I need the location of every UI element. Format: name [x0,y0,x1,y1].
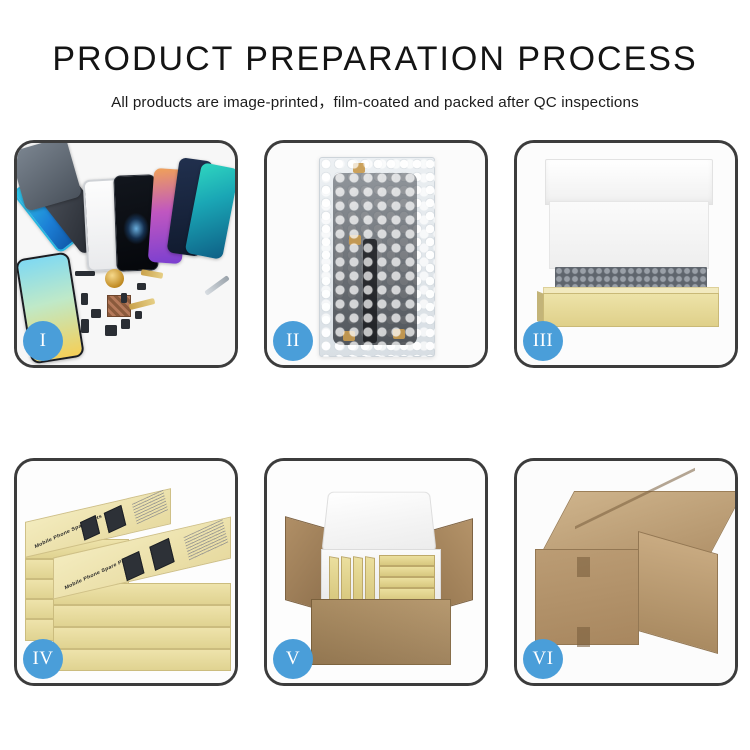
process-step-2[interactable]: II [264,140,488,368]
kraft-box-body [543,293,719,327]
step-badge-4: IV [23,639,63,679]
copper-coil-part [105,269,124,288]
small-part [91,309,101,318]
stacked-box-edge [53,627,231,649]
small-part [75,271,95,276]
carton-tab [577,557,590,577]
box-product-thumbnail [149,538,174,571]
kraft-box-item [341,556,351,602]
kraft-box-item [353,556,363,602]
process-step-3[interactable]: III [514,140,738,368]
foam-insert [549,201,709,269]
process-step-1[interactable]: I [14,140,238,368]
stacked-box-edge [53,605,231,627]
small-part [81,293,88,305]
box-stack: Mobile Phone Spare Parts Mobile Phone Sp… [25,487,231,665]
small-part [105,325,117,336]
box-lid-open [545,159,713,205]
step-badge-2: II [273,321,313,361]
small-part [137,283,146,290]
kraft-box-item [379,566,435,577]
small-part [121,319,130,329]
flex-cable-part [129,298,156,310]
step-badge-5: V [273,639,313,679]
carton-tab [577,627,590,647]
tape-piece [393,329,405,339]
kraft-box-item [379,577,435,588]
flex-cable-part [141,269,164,279]
step-badge-3: III [523,321,563,361]
header: PRODUCT PREPARATION PROCESS All products… [0,0,750,112]
tape-piece [353,163,365,173]
page-subtitle: All products are image-printed，film-coat… [0,90,750,112]
small-part [121,293,127,303]
box-product-thumbnail [122,551,145,581]
stacked-box-edge [53,649,231,671]
product-preparation-infographic: PRODUCT PREPARATION PROCESS All products… [0,0,750,750]
foam-box-lid [321,492,436,552]
small-part [81,319,89,333]
carton-front-shading [311,599,451,665]
box-product-thumbnail [104,505,126,533]
tweezers-tool [204,275,230,296]
process-step-5[interactable]: V [264,458,488,686]
box-spec-lines [132,490,168,525]
logic-board-chip [107,295,131,317]
tape-piece [343,331,355,341]
kraft-box-item [379,555,435,566]
screen-flex-tail [363,239,377,343]
step-badge-6: VI [523,639,563,679]
box-spec-lines [184,519,229,561]
process-step-6[interactable]: VI [514,458,738,686]
process-step-grid: I II [14,140,736,686]
small-part [135,311,142,319]
kraft-box-item [365,556,375,602]
step-badge-1: I [23,321,63,361]
process-step-4[interactable]: Mobile Phone Spare Parts Mobile Phone Sp… [14,458,238,686]
page-title: PRODUCT PREPARATION PROCESS [0,42,750,76]
tape-piece [349,235,361,245]
kraft-box-item [329,556,339,602]
